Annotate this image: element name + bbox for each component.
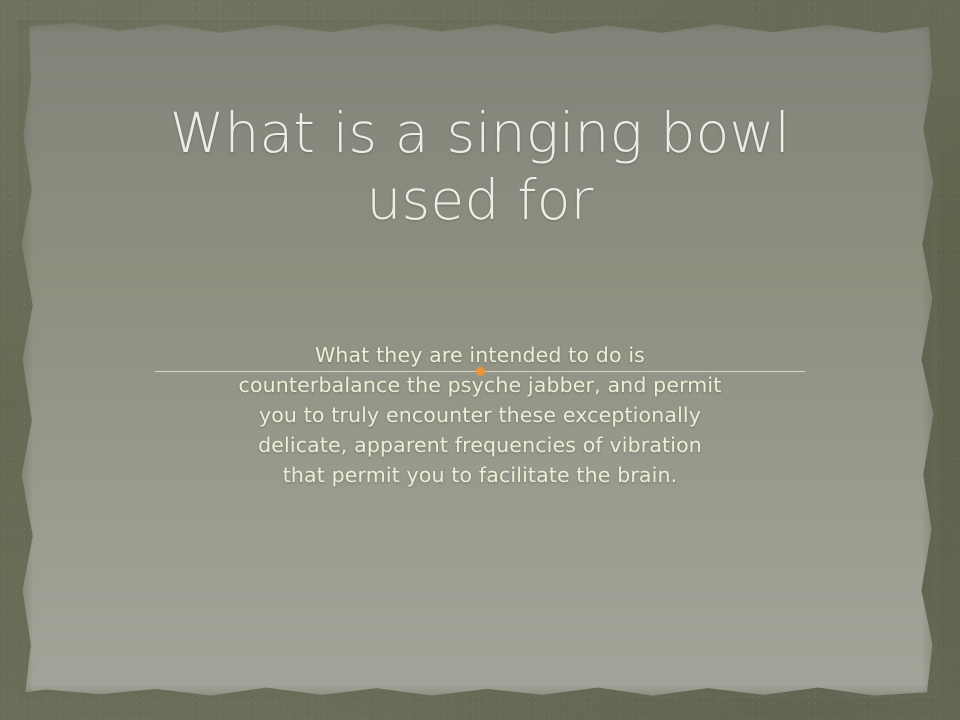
body-line: delicate, apparent frequencies of vibrat… bbox=[110, 430, 850, 460]
slide-title-block: What is a singing bowl used for bbox=[60, 100, 900, 234]
slide-title: What is a singing bowl used for bbox=[60, 100, 900, 234]
slide-body-block: What they are intended to do is counterb… bbox=[110, 340, 850, 490]
slide-content: What is a singing bowl used for What the… bbox=[0, 0, 960, 720]
slide-title-line-2: used for bbox=[367, 168, 594, 232]
body-line: you to truly encounter these exceptional… bbox=[110, 400, 850, 430]
body-line: What they are intended to do is bbox=[110, 340, 850, 370]
slide-title-line-1: What is a singing bowl bbox=[170, 101, 790, 165]
body-line: counterbalance the psyche jabber, and pe… bbox=[110, 370, 850, 400]
body-line: that permit you to facilitate the brain. bbox=[110, 460, 850, 490]
presentation-slide: What is a singing bowl used for What the… bbox=[0, 0, 960, 720]
